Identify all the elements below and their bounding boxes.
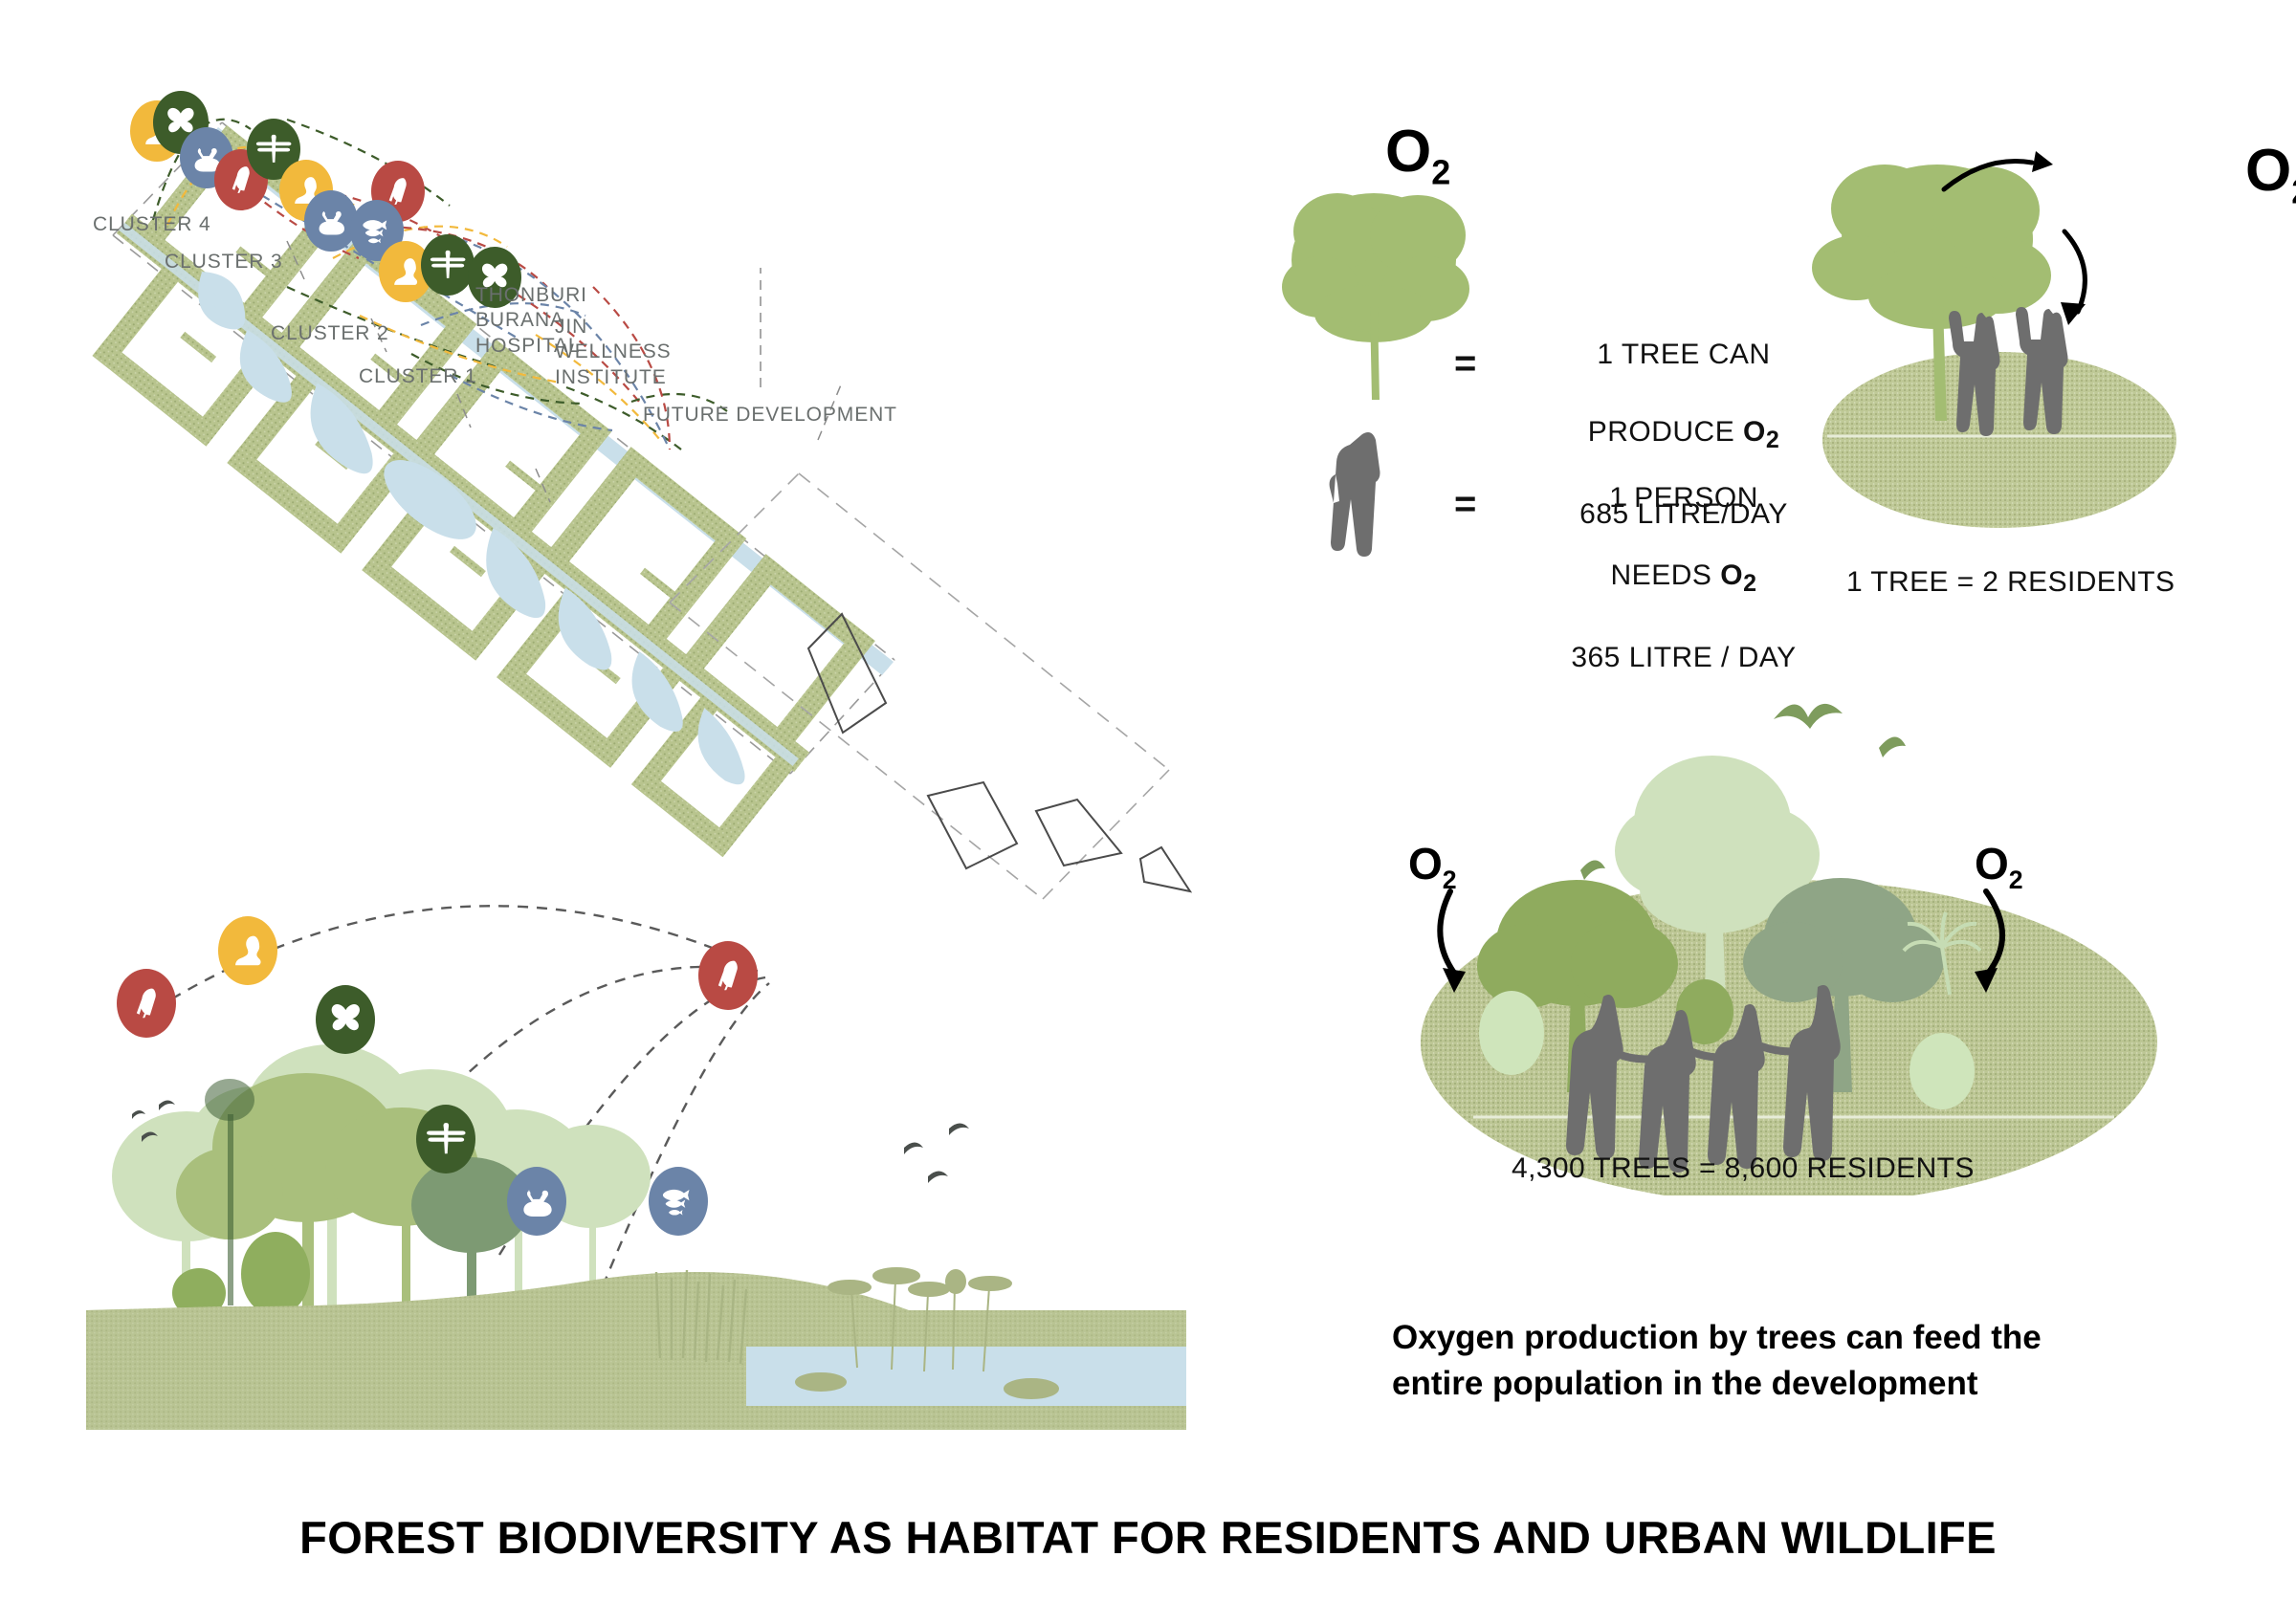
site-plan-diagram: CLUSTER 4 CLUSTER 3 CLUSTER 2 CLUSTER 1 … — [0, 0, 1339, 909]
frog-icon — [516, 1176, 559, 1226]
bird-icon — [707, 951, 750, 1000]
plan-label-future-development: FUTURE DEVELOPMENT — [643, 403, 897, 428]
plan-label-cluster-2: CLUSTER 2 — [271, 321, 389, 346]
one-tree-caption: 1 TREE = 2 RESIDENTS — [1846, 566, 2175, 599]
plan-label-cluster-4: CLUSTER 4 — [93, 212, 211, 237]
species-badge-frog[interactable] — [507, 1167, 566, 1236]
equals-sign-tree: = — [1454, 342, 1476, 385]
oxygen-equation-diagram: O2 = 1 TREE CAN PRODUCE O2 685 LITRE/DAY… — [1282, 115, 2296, 650]
squirrel-icon — [227, 926, 270, 976]
forest-population-diagram: O2 O2 — [1368, 660, 2296, 1195]
page-title: FOREST BIODIVERSITY AS HABITAT FOR RESID… — [0, 1511, 2296, 1564]
squirrel-icon — [386, 250, 425, 294]
species-badge-bird[interactable] — [117, 969, 176, 1038]
one-tree-two-residents-scene — [1799, 134, 2200, 545]
butterfly-icon — [324, 995, 367, 1044]
fish-icon — [657, 1176, 700, 1226]
plan-label-cluster-1: CLUSTER 1 — [359, 364, 477, 389]
shrub-cluster — [172, 1232, 310, 1318]
species-badge-frog[interactable] — [304, 190, 358, 252]
dragonfly-icon — [254, 127, 293, 171]
person-line-2: NEEDS O2 — [1516, 557, 1851, 601]
plan-label-jin-wellness-institute: JIN WELLNESS INSTITUTE — [555, 315, 672, 390]
oxygen-tagline: Oxygen production by trees can feed the … — [1392, 1315, 2119, 1408]
person-figure-icon — [1318, 430, 1424, 564]
equals-sign-person: = — [1454, 483, 1476, 526]
o2-label-scene: O2 — [2245, 142, 2296, 208]
plan-label-cluster-3: CLUSTER 3 — [165, 250, 283, 274]
species-badge-dragonfly[interactable] — [421, 234, 475, 296]
species-badge-fish[interactable] — [649, 1167, 708, 1236]
forest-section-diagram — [86, 861, 1263, 1454]
lawn-disc — [1822, 352, 2176, 528]
o2-label-left: O2 — [1408, 842, 1457, 893]
frog-icon — [312, 199, 350, 243]
species-badge-butterfly[interactable] — [316, 985, 375, 1054]
species-badge-squirrel[interactable] — [218, 916, 277, 985]
dragonfly-icon — [429, 243, 467, 287]
dragonfly-icon — [425, 1114, 468, 1164]
species-badge-bird[interactable] — [698, 941, 758, 1010]
forest-population-caption: 4,300 TREES = 8,600 RESIDENTS — [1512, 1152, 1975, 1185]
bird-icon — [125, 978, 168, 1028]
species-badge-dragonfly[interactable] — [416, 1105, 475, 1173]
o2-label-right: O2 — [1975, 842, 2023, 893]
forest-population-svg — [1368, 660, 2296, 1195]
